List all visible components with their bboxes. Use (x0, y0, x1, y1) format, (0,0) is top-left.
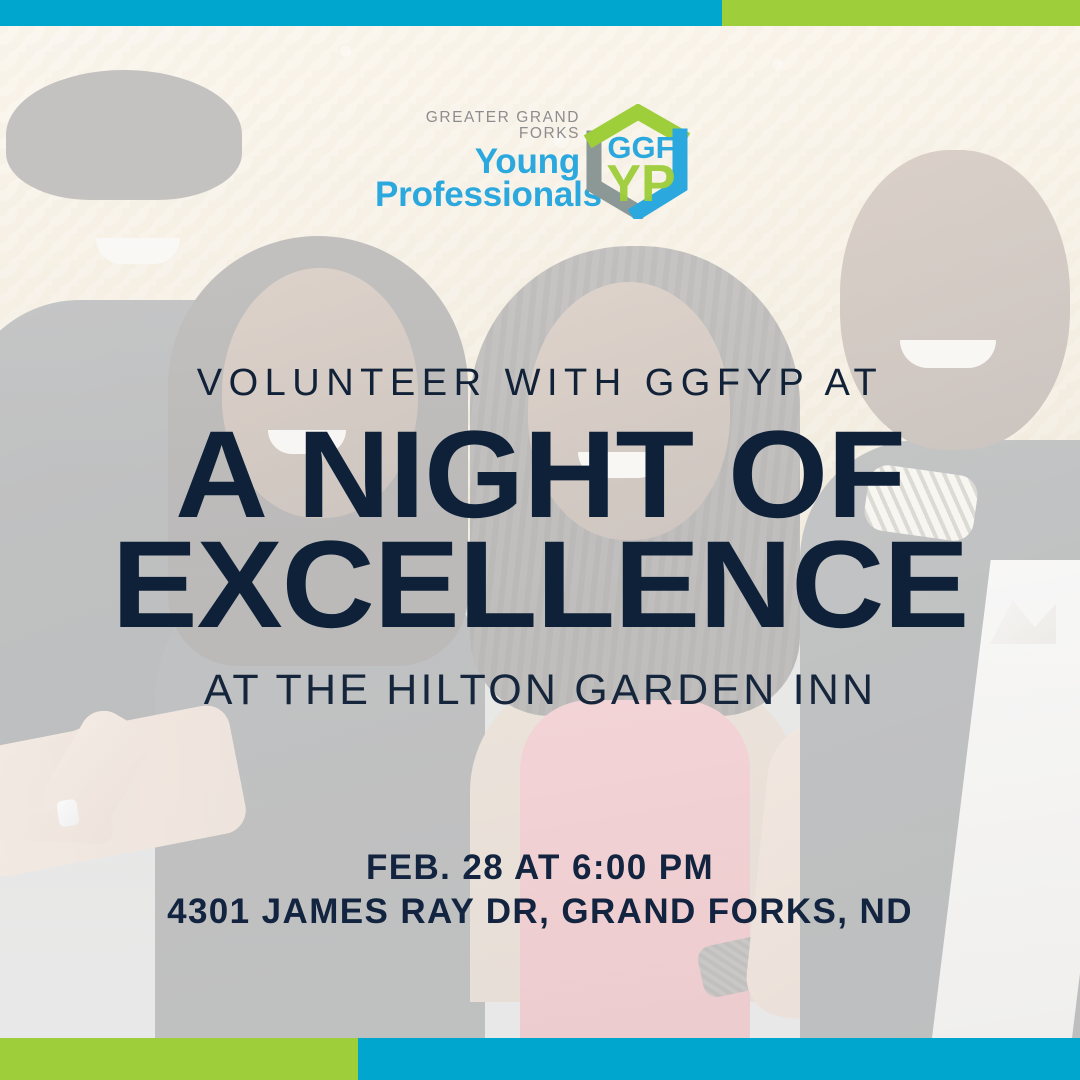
headline-line-1: A NIGHT OF (0, 418, 1080, 532)
ggfyp-logo: GREATER GRAND FORKS Young Professionals … (375, 110, 705, 215)
top-bar-cyan-segment (0, 0, 722, 26)
top-bar-green-segment (722, 0, 1080, 26)
event-address: 4301 JAMES RAY DR, GRAND FORKS, ND (0, 892, 1080, 932)
bottom-bar-cyan-segment (358, 1038, 1080, 1080)
kicker-text: VOLUNTEER WITH GGFYP AT (0, 362, 1080, 405)
logo-name-line-2: Professionals (375, 179, 580, 212)
headline-line-2: EXCELLENCE (0, 528, 1080, 642)
bottom-color-bar (0, 1038, 1080, 1080)
logo-wordmark: GREATER GRAND FORKS Young Professionals (375, 110, 580, 212)
event-poster: GREATER GRAND FORKS Young Professionals … (0, 0, 1080, 1080)
hexagon-yp-text: YP (606, 155, 675, 213)
top-color-bar (0, 0, 1080, 26)
bottom-bar-green-segment (0, 1038, 358, 1080)
hexagon-logo-mark: GGF YP (580, 104, 702, 219)
venue-text: AT THE HILTON GARDEN INN (0, 666, 1080, 715)
event-datetime: FEB. 28 AT 6:00 PM (0, 848, 1080, 888)
logo-organization-line: GREATER GRAND FORKS (375, 110, 580, 141)
logo-name-line-1: Young (375, 146, 580, 179)
